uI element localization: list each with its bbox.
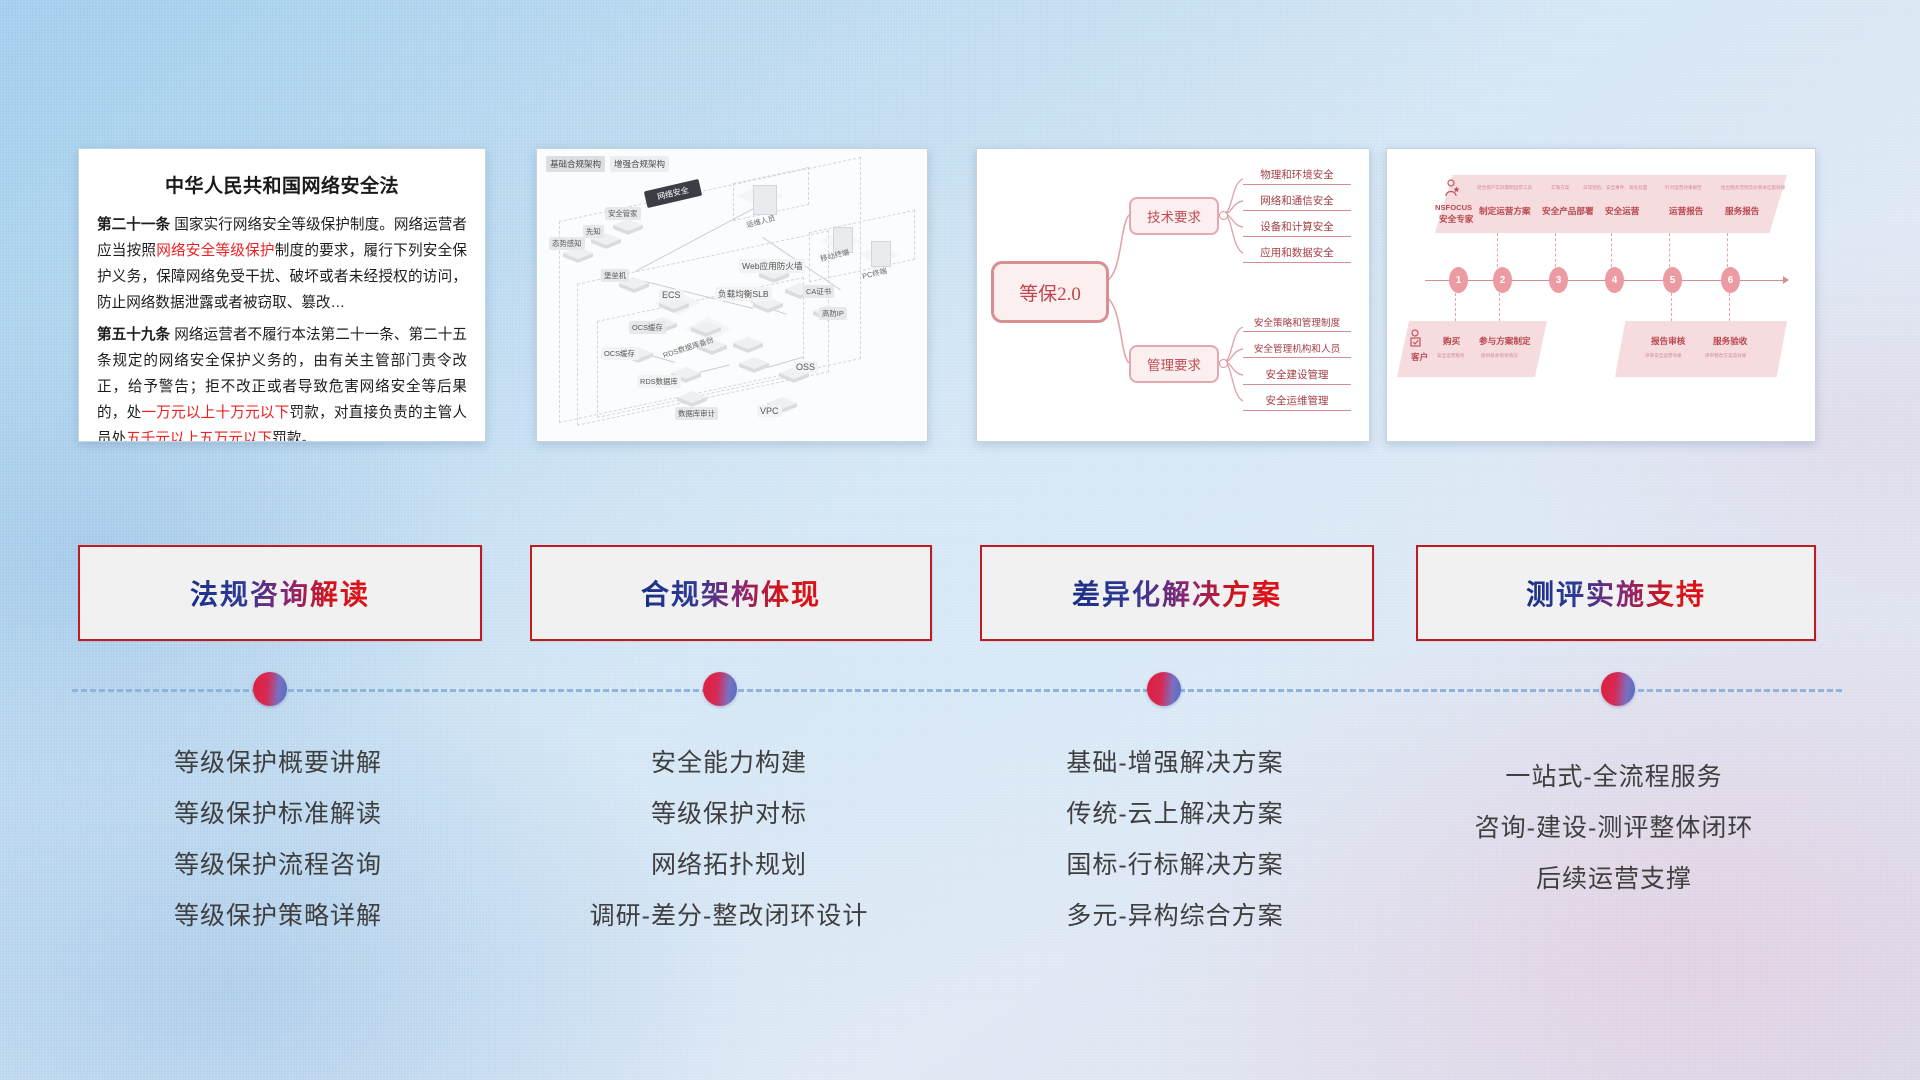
timeline-bottom-sub-2: 提供基本现状情况 <box>1481 353 1518 359</box>
architecture-label-baoleiji: 堡垒机 <box>601 269 629 282</box>
architecture-label-slb: 负载均衡SLB <box>715 287 772 301</box>
timeline-dash-3 <box>1555 233 1557 267</box>
architecture-label-oss: OSS <box>793 361 818 373</box>
list-item: 一站式-全流程服务 <box>1416 752 1812 803</box>
mindmap-leaf-mgmt-3: 安全建设管理 <box>1243 367 1351 385</box>
list-item: 等级保护流程咨询 <box>78 840 478 891</box>
timeline-dash-4 <box>1611 233 1613 267</box>
law-article-59-label: 第五十九条 <box>97 327 170 343</box>
image-card-row: 中华人民共和国网络安全法 第二十一条 国家实行网络安全等级保护制度。网络运营者应… <box>0 148 1920 448</box>
card-cybersecurity-law[interactable]: 中华人民共和国网络安全法 第二十一条 国家实行网络安全等级保护制度。网络运营者应… <box>78 148 486 442</box>
mindmap-root-node: 等保2.0 <box>991 261 1109 323</box>
mindmap-leaf-mgmt-2: 安全管理机构和人员 <box>1243 341 1351 358</box>
list-item: 网络拓扑规划 <box>530 840 928 891</box>
architecture-diagram: 基础合规架构 增强合规架构 网络安全 <box>537 149 927 441</box>
architecture-label-xianzhi: 先知 <box>583 225 604 238</box>
timeline-top-sub-3: 日常巡检、安全事件、高危处置 <box>1583 185 1647 191</box>
timeline-top-sub-2: 实施方案 <box>1551 185 1569 191</box>
list-item: 等级保护对标 <box>530 789 928 840</box>
list-item: 传统-云上解决方案 <box>980 789 1370 840</box>
timeline-step-4: 4 <box>1605 267 1624 293</box>
timeline-marker-3[interactable] <box>1147 672 1181 706</box>
list-item: 国标-行标解决方案 <box>980 840 1370 891</box>
timeline-bottom-title-2: 参与方案制定 <box>1479 335 1531 347</box>
expert-label-line1: NSFOCUS <box>1435 203 1472 212</box>
section-items-column-1: 等级保护概要讲解 等级保护标准解读 等级保护流程咨询 等级保护策略详解 <box>78 738 478 942</box>
timeline-bottom-sub-3: 评审安全运营效果 <box>1645 353 1682 359</box>
mindmap-leaf-tech-2: 网络和通信安全 <box>1243 193 1351 211</box>
timeline-bottom-title-3: 报告审核 <box>1651 335 1685 347</box>
timeline-dash-2b <box>1499 293 1501 321</box>
architecture-label-ecs: ECS <box>659 289 684 301</box>
timeline-bottom-sub-1: 安全运营服务 <box>1437 353 1465 359</box>
timeline-top-title-1: 制定运营方案 <box>1479 205 1531 217</box>
mindmap-leaf-mgmt-4: 安全运维管理 <box>1243 393 1351 411</box>
list-item: 等级保护标准解读 <box>78 789 478 840</box>
section-items-column-4: 一站式-全流程服务 咨询-建设-测评整体闭环 后续运营支撑 <box>1416 752 1812 905</box>
list-item: 咨询-建设-测评整体闭环 <box>1416 803 1812 854</box>
law-article-59-highlight-1: 一万元以上十万元以下 <box>141 405 289 421</box>
section-title-label-1: 法规咨询解读 <box>190 573 370 613</box>
card-dengbao-mindmap[interactable]: 等保2.0 技术要求 物理和环境安全 网络和通信安全 设备和计算安全 应用和数据… <box>976 148 1370 442</box>
timeline-bottom-title-1: 购买 <box>1443 335 1460 347</box>
timeline-axis-row <box>0 660 1920 720</box>
timeline-dash-6 <box>1727 233 1729 267</box>
mindmap-dot-management <box>1219 359 1228 368</box>
timeline-dash-5b <box>1671 293 1673 321</box>
section-items-column-2: 安全能力构建 等级保护对标 网络拓扑规划 调研-差分-整改闭环设计 <box>530 738 928 942</box>
list-item: 安全能力构建 <box>530 738 928 789</box>
architecture-label-dbaudit: 数据库审计 <box>675 407 718 420</box>
law-article-21-label: 第二十一条 <box>97 217 170 233</box>
law-article-21-highlight: 网络安全等级保护 <box>156 243 274 259</box>
architecture-server-pc <box>871 241 891 267</box>
expert-person-icon <box>1443 179 1461 199</box>
architecture-label-anqishi: OCS缓存 <box>629 321 666 334</box>
timeline-step-6: 6 <box>1721 267 1740 293</box>
mindmap-leaf-tech-1: 物理和环境安全 <box>1243 167 1351 185</box>
law-article-59-text3: 罚款。 <box>272 431 316 442</box>
architecture-label-waf: Web应用防火墙 <box>739 259 805 273</box>
timeline-axis-arrow-icon <box>1783 276 1789 284</box>
architecture-label-ca: CA证书 <box>803 285 834 298</box>
timeline-dashed-line <box>72 689 1842 692</box>
timeline-band-expert <box>1435 175 1787 233</box>
mindmap-branch-management: 管理要求 <box>1129 345 1219 383</box>
timeline-marker-4[interactable] <box>1601 672 1635 706</box>
list-item: 等级保护策略详解 <box>78 891 478 942</box>
architecture-tabs: 基础合规架构 增强合规架构 <box>546 156 669 172</box>
mindmap: 等保2.0 技术要求 物理和环境安全 网络和通信安全 设备和计算安全 应用和数据… <box>977 149 1369 441</box>
customer-person-icon <box>1409 329 1425 351</box>
architecture-tab-basic[interactable]: 基础合规架构 <box>546 156 605 172</box>
timeline-bottom-sub-4: 评审整改方案及效果 <box>1705 353 1746 359</box>
mindmap-leaf-tech-3: 设备和计算安全 <box>1243 219 1351 237</box>
architecture-cube-rdsbak <box>733 337 763 356</box>
timeline-top-sub-5: 给出服务范围及达到本应策效果 <box>1721 185 1785 191</box>
law-article-59: 第五十九条 网络运营者不履行本法第二十一条、第二十五条规定的网络安全保护义务的，… <box>97 322 467 442</box>
timeline-marker-2[interactable] <box>703 672 737 706</box>
list-item: 等级保护概要讲解 <box>78 738 478 789</box>
timeline-step-1: 1 <box>1449 267 1468 293</box>
timeline-top-title-2: 安全产品部署 <box>1542 205 1594 217</box>
architecture-label-gaofangip: 高防IP <box>819 307 847 320</box>
section-title-box-3[interactable]: 差异化解决方案 <box>980 545 1374 641</box>
timeline-dash-6b <box>1729 293 1731 321</box>
architecture-label-taishiganzhi: 态势感知 <box>549 237 585 250</box>
timeline-band-customer-right <box>1615 321 1787 377</box>
law-article-21: 第二十一条 国家实行网络安全等级保护制度。网络运营者应当按照网络安全等级保护制度… <box>97 212 467 316</box>
service-timeline: NSFOCUS 安全专家 客户 结合客户实际需明运营工具 制定运营方案 实施方案… <box>1387 149 1815 441</box>
timeline-step-5: 5 <box>1663 267 1682 293</box>
timeline-top-title-5: 服务报告 <box>1725 205 1759 217</box>
timeline-marker-1[interactable] <box>253 672 287 706</box>
section-title-row: 法规咨询解读 合规架构体现 差异化解决方案 测评实施支持 <box>0 545 1920 640</box>
card-service-timeline[interactable]: NSFOCUS 安全专家 客户 结合客户实际需明运营工具 制定运营方案 实施方案… <box>1386 148 1816 442</box>
list-item: 基础-增强解决方案 <box>980 738 1370 789</box>
timeline-top-title-3: 安全运营 <box>1605 205 1639 217</box>
mindmap-dot-technical <box>1219 211 1228 220</box>
mindmap-leaf-mgmt-1: 安全策略和管理制度 <box>1243 315 1351 332</box>
timeline-step-2: 2 <box>1493 267 1512 293</box>
section-title-box-2[interactable]: 合规架构体现 <box>530 545 932 641</box>
mindmap-branch-technical: 技术要求 <box>1129 197 1219 235</box>
list-item: 多元-异构综合方案 <box>980 891 1370 942</box>
section-title-label-4: 测评实施支持 <box>1526 573 1706 613</box>
section-title-box-1[interactable]: 法规咨询解读 <box>78 545 482 641</box>
list-item: 调研-差分-整改闭环设计 <box>530 891 928 942</box>
architecture-label-vpc: VPC <box>757 405 782 417</box>
expert-label-line2: 安全专家 <box>1439 213 1473 225</box>
section-title-box-4[interactable]: 测评实施支持 <box>1416 545 1816 641</box>
law-article-59-highlight-2: 五千元以上五万元以下 <box>126 431 272 442</box>
section-items-column-3: 基础-增强解决方案 传统-云上解决方案 国标-行标解决方案 多元-异构综合方案 <box>980 738 1370 942</box>
timeline-top-title-4: 运营报告 <box>1669 205 1703 217</box>
timeline-dash-5 <box>1669 233 1671 267</box>
customer-label: 客户 <box>1411 351 1428 363</box>
mindmap-leaf-tech-4: 应用和数据安全 <box>1243 245 1351 263</box>
law-text-body: 中华人民共和国网络安全法 第二十一条 国家实行网络安全等级保护制度。网络运营者应… <box>79 149 485 441</box>
timeline-dash-1b <box>1455 293 1457 321</box>
architecture-label-ocs: OCS缓存 <box>601 347 638 360</box>
architecture-label-rds: RDS数据库 <box>637 375 681 388</box>
timeline-bottom-title-4: 服务验收 <box>1713 335 1747 347</box>
section-title-label-3: 差异化解决方案 <box>1072 573 1282 613</box>
timeline-top-sub-4: 针对运营效果报告 <box>1665 185 1702 191</box>
law-title: 中华人民共和国网络安全法 <box>97 171 467 198</box>
architecture-cube-rdsbak2 <box>739 357 769 376</box>
timeline-step-3: 3 <box>1549 267 1568 293</box>
timeline-top-sub-1: 结合客户实际需明运营工具 <box>1477 185 1532 191</box>
list-item: 后续运营支撑 <box>1416 854 1812 905</box>
architecture-tab-enhanced[interactable]: 增强合规架构 <box>610 156 669 172</box>
card-compliance-architecture[interactable]: 基础合规架构 增强合规架构 网络安全 <box>536 148 928 442</box>
section-items-row: 等级保护概要讲解 等级保护标准解读 等级保护流程咨询 等级保护策略详解 安全能力… <box>0 738 1920 958</box>
architecture-label-anquanguanjia: 安全管家 <box>605 207 641 220</box>
section-title-label-2: 合规架构体现 <box>641 573 821 613</box>
timeline-dash-2 <box>1497 233 1499 267</box>
